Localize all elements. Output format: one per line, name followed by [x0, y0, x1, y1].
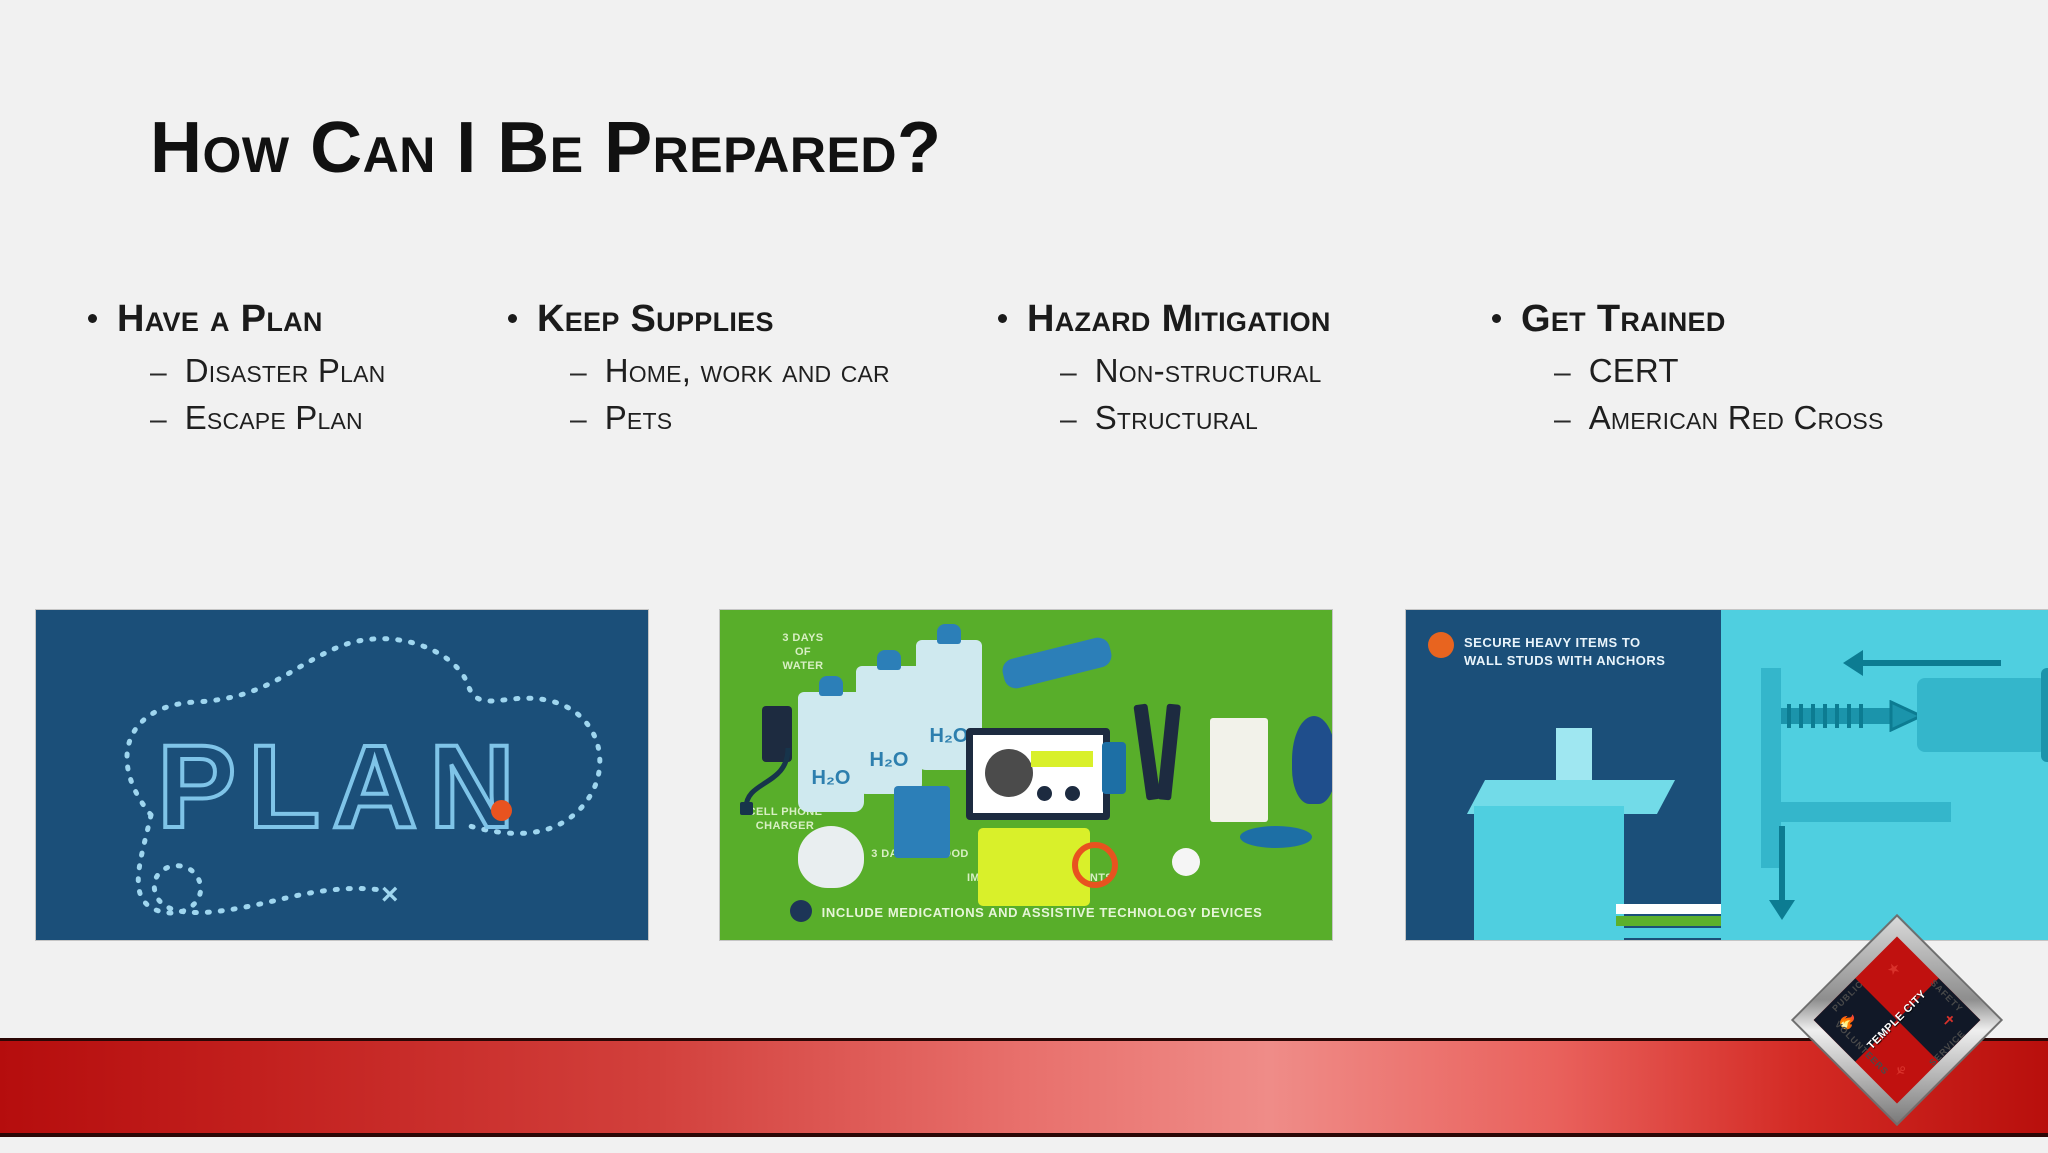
books-icon: [1616, 898, 1736, 940]
list-item-label: Home, work and car: [605, 354, 890, 389]
supplies-caption-text: INCLUDE MEDICATIONS AND ASSISTIVE TECHNO…: [822, 905, 1263, 920]
radio-tuner-display: [1031, 751, 1093, 767]
battery-icon: [1102, 742, 1126, 794]
fema-badge-icon: [1428, 632, 1454, 658]
arrow-left-shaft: [1851, 660, 2001, 666]
charger-cable-icon: [740, 746, 804, 822]
column-heading-keep-supplies: Keep Supplies: [508, 300, 978, 340]
anchor-right-panel: [1721, 610, 2048, 940]
image-supplies: 3 DAYS OF WATER CELL PHONE CHARGER 3 DAY…: [720, 610, 1332, 940]
list-item: – Disaster Plan: [88, 354, 488, 389]
bullet-dot-icon: [998, 314, 1007, 323]
drill-icon: [1917, 678, 2047, 752]
list-item: – Structural: [998, 401, 1478, 436]
dash-icon: –: [1554, 358, 1571, 388]
jug-cap-icon: [937, 624, 961, 644]
bullet-dot-icon: [508, 314, 517, 323]
footer-accent-bar: [0, 1038, 2048, 1137]
image-secure-heavy-items: SECURE HEAVY ITEMS TO WALL STUDS WITH AN…: [1406, 610, 2048, 940]
list-item: – Home, work and car: [508, 354, 978, 389]
water-jug-icon: H₂O: [856, 666, 922, 794]
arrow-down-shaft: [1779, 826, 1785, 904]
route-x-marker-icon: ×: [381, 878, 399, 912]
column-heading-hazard-mitigation: Hazard Mitigation: [998, 300, 1478, 340]
bullet-column-keep-supplies: Keep Supplies – Home, work and car – Pet…: [508, 300, 978, 447]
radio-knob-icon: [1065, 786, 1080, 801]
bullet-column-get-trained: Get Trained – CERT – American Red Cross: [1492, 300, 2032, 447]
dash-icon: –: [150, 358, 167, 388]
jug-label: H₂O: [812, 767, 851, 790]
list-item-label: American Red Cross: [1589, 401, 1884, 436]
dash-icon: –: [150, 405, 167, 435]
screw-icon: [1781, 700, 1931, 732]
list-item-label: Escape Plan: [185, 401, 363, 436]
anchor-caption: SECURE HEAVY ITEMS TO WALL STUDS WITH AN…: [1464, 634, 1665, 670]
bullet-dot-icon: [1492, 314, 1501, 323]
column-heading-get-trained: Get Trained: [1492, 300, 2032, 340]
label-water-supply: 3 DAYS OF WATER: [758, 632, 848, 673]
bullet-dot-icon: [88, 314, 97, 323]
radio-knob-icon: [1037, 786, 1052, 801]
sub-list-keep-supplies: – Home, work and car – Pets: [508, 354, 978, 435]
list-item-label: Pets: [605, 401, 673, 436]
page-title: How Can I Be Prepared?: [150, 112, 941, 184]
sub-list-have-a-plan: – Disaster Plan – Escape Plan: [88, 354, 488, 435]
dash-icon: –: [570, 405, 587, 435]
sub-list-hazard-mitigation: – Non-structural – Structural: [998, 354, 1478, 435]
bullet-columns: Have a Plan – Disaster Plan – Escape Pla…: [0, 300, 2048, 480]
pet-food-bag-icon: [1210, 718, 1268, 822]
list-item: – CERT: [1492, 354, 2032, 389]
plan-wordmark: PLAN: [36, 728, 648, 846]
wall-stud: [1761, 668, 1781, 868]
list-item-label: Non-structural: [1095, 354, 1322, 389]
temple-city-cert-logo: ★ ✝ 🔥 ⚘ TEMPLE CITY PUBLIC SAFETY VOLUNT…: [1822, 945, 1972, 1095]
anchor-left-panel: SECURE HEAVY ITEMS TO WALL STUDS WITH AN…: [1406, 610, 1721, 940]
jug-cap-icon: [819, 676, 843, 696]
list-item-label: CERT: [1589, 354, 1679, 389]
list-item-label: Structural: [1095, 401, 1258, 436]
dash-icon: –: [1060, 358, 1077, 388]
pet-bowl-icon: [1240, 826, 1312, 848]
whistle-icon: [1072, 842, 1118, 888]
shelf-body: [1474, 806, 1624, 940]
list-item: – Pets: [508, 401, 978, 436]
sub-list-get-trained: – CERT – American Red Cross: [1492, 354, 2032, 435]
list-item: – American Red Cross: [1492, 401, 2032, 436]
arrow-down-icon: [1769, 900, 1795, 920]
dust-mask-icon: [798, 826, 864, 888]
list-item-label: Disaster Plan: [185, 354, 386, 389]
caption-badge-icon: [790, 900, 812, 922]
route-endpoint-dot-icon: [491, 800, 512, 821]
list-item: – Escape Plan: [88, 401, 488, 436]
column-heading-label: Get Trained: [1521, 300, 1726, 340]
radio-icon: [966, 728, 1110, 820]
pet-cat-icon: [1292, 716, 1332, 804]
dash-icon: –: [570, 358, 587, 388]
list-item: – Non-structural: [998, 354, 1478, 389]
column-heading-label: Have a Plan: [117, 300, 323, 340]
food-can-icon: [894, 786, 950, 858]
shelf-ledge: [1761, 802, 1951, 822]
bullet-column-have-a-plan: Have a Plan – Disaster Plan – Escape Pla…: [88, 300, 488, 447]
column-heading-have-a-plan: Have a Plan: [88, 300, 488, 340]
radio-speaker-icon: [985, 749, 1033, 797]
picture-row: PLAN × 3 DAYS OF WATER CELL PHONE CHARGE…: [0, 610, 2048, 940]
dash-icon: –: [1060, 405, 1077, 435]
drill-grip-icon: [2041, 668, 2048, 762]
dash-icon: –: [1554, 405, 1571, 435]
water-jug-icon: H₂O: [798, 692, 864, 812]
jug-cap-icon: [877, 650, 901, 670]
jug-label: H₂O: [870, 749, 909, 772]
first-aid-icon: [1172, 848, 1200, 876]
column-heading-label: Hazard Mitigation: [1027, 300, 1331, 340]
supplies-caption: INCLUDE MEDICATIONS AND ASSISTIVE TECHNO…: [720, 900, 1332, 922]
column-heading-label: Keep Supplies: [537, 300, 774, 340]
slide-canvas: How Can I Be Prepared? Have a Plan – Dis…: [0, 0, 2048, 1153]
image-plan: PLAN ×: [36, 610, 648, 940]
jug-label: H₂O: [930, 725, 969, 748]
bullet-column-hazard-mitigation: Hazard Mitigation – Non-structural – Str…: [998, 300, 1478, 447]
